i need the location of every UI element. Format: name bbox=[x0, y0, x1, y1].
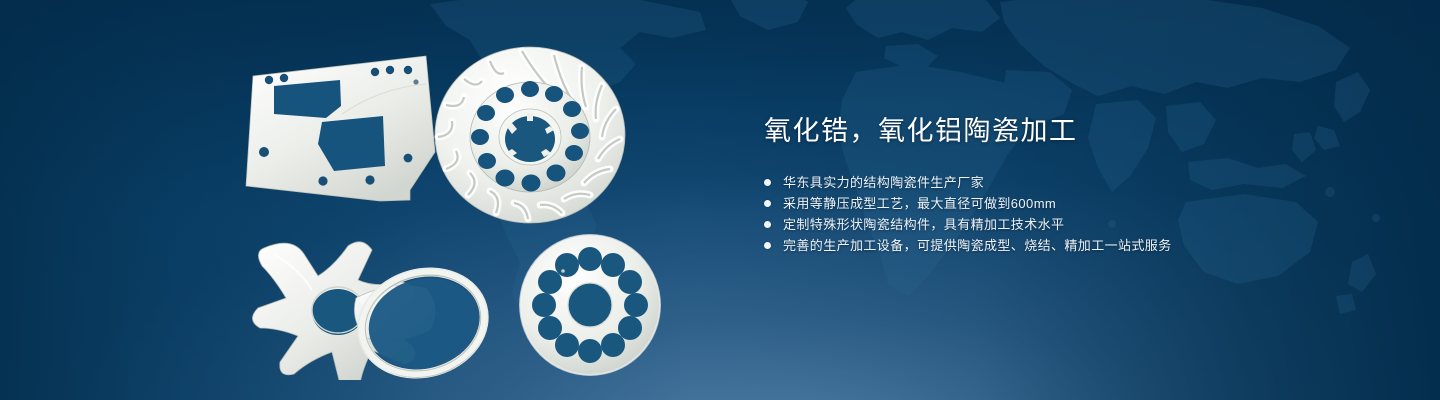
list-item: 采用等静压成型工艺，最大直径可做到600mm bbox=[764, 193, 1384, 214]
list-item: 定制特殊形状陶瓷结构件，具有精加工技术水平 bbox=[764, 214, 1384, 235]
feature-text: 华东具实力的结构陶瓷件生产厂家 bbox=[783, 172, 984, 193]
banner-copy: 氧化锆，氧化铝陶瓷加工 华东具实力的结构陶瓷件生产厂家 采用等静压成型工艺，最大… bbox=[764, 112, 1384, 256]
list-item: 华东具实力的结构陶瓷件生产厂家 bbox=[764, 172, 1384, 193]
ceramic-impeller-disc bbox=[435, 47, 625, 223]
banner-headline: 氧化锆，氧化铝陶瓷加工 bbox=[764, 112, 1384, 150]
list-item: 完善的生产加工设备，可提供陶瓷成型、烧结、精加工一站式服务 bbox=[764, 235, 1384, 256]
ceramic-products-photo bbox=[230, 40, 700, 380]
bullet-dot-icon bbox=[764, 179, 771, 186]
ceramic-plate-with-cutouts bbox=[246, 56, 435, 201]
bullet-dot-icon bbox=[764, 200, 771, 207]
bullet-dot-icon bbox=[764, 242, 771, 249]
feature-text: 采用等静压成型工艺，最大直径可做到600mm bbox=[783, 193, 1056, 214]
ceramic-ring bbox=[350, 258, 498, 380]
ceramic-perforated-disc bbox=[520, 235, 660, 375]
feature-text: 定制特殊形状陶瓷结构件，具有精加工技术水平 bbox=[783, 214, 1064, 235]
promo-banner: 氧化锆，氧化铝陶瓷加工 华东具实力的结构陶瓷件生产厂家 采用等静压成型工艺，最大… bbox=[0, 0, 1440, 400]
bullet-dot-icon bbox=[764, 221, 771, 228]
feature-text: 完善的生产加工设备，可提供陶瓷成型、烧结、精加工一站式服务 bbox=[783, 235, 1172, 256]
feature-list: 华东具实力的结构陶瓷件生产厂家 采用等静压成型工艺，最大直径可做到600mm 定… bbox=[764, 172, 1384, 256]
